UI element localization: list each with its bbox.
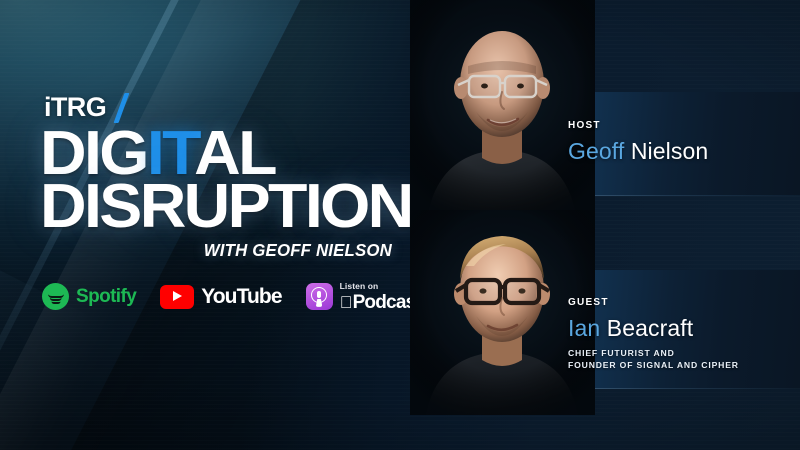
- host-name: Geoff Nielson: [568, 138, 708, 165]
- blue-slash-icon: [114, 93, 130, 123]
- guest-title-line-1: CHIEF FUTURIST AND: [568, 347, 739, 359]
- host-card: HOST Geoff Nielson: [400, 0, 800, 215]
- show-title-block: DIGITAL DISRUPTION WITH GEOFF NIELSON: [40, 128, 412, 261]
- host-role-label: HOST: [568, 120, 708, 131]
- host-first-name: Geoff: [568, 138, 624, 164]
- host-text: HOST Geoff Nielson: [568, 120, 708, 165]
- spotify-icon: [42, 283, 69, 310]
- guest-first-name: Ian: [568, 315, 600, 341]
- guest-role-label: GUEST: [568, 297, 739, 308]
- guest-title-line-2: FOUNDER OF SIGNAL AND CIPHER: [568, 359, 739, 371]
- spotify-badge[interactable]: Spotify: [42, 283, 136, 310]
- show-subtitle: WITH GEOFF NIELSON: [54, 240, 392, 261]
- host-portrait: [410, 0, 595, 215]
- podcast-promo-graphic: iTRG DIGITAL DISRUPTION WITH GEOFF NIELS…: [0, 0, 800, 450]
- youtube-badge[interactable]: YouTube: [160, 285, 281, 309]
- platform-badges: Spotify YouTube Listen on Podcasts: [42, 282, 431, 312]
- guest-name: Ian Beacraft: [568, 315, 739, 342]
- guest-last-name: Beacraft: [607, 315, 693, 341]
- guest-card: GUEST Ian Beacraft CHIEF FUTURIST AND FO…: [400, 215, 800, 415]
- apple-logo-icon: : [340, 294, 352, 311]
- guest-title: CHIEF FUTURIST AND FOUNDER OF SIGNAL AND…: [568, 347, 739, 372]
- guest-text: GUEST Ian Beacraft CHIEF FUTURIST AND FO…: [568, 297, 739, 372]
- youtube-label: YouTube: [201, 285, 281, 309]
- youtube-icon: [160, 285, 194, 309]
- spotify-label: Spotify: [76, 286, 136, 308]
- left-content-column: iTRG DIGITAL DISRUPTION WITH GEOFF NIELS…: [0, 0, 420, 450]
- show-title-line-2: DISRUPTION: [40, 181, 427, 233]
- host-last-name: Nielson: [631, 138, 708, 164]
- apple-podcasts-icon: [306, 283, 333, 310]
